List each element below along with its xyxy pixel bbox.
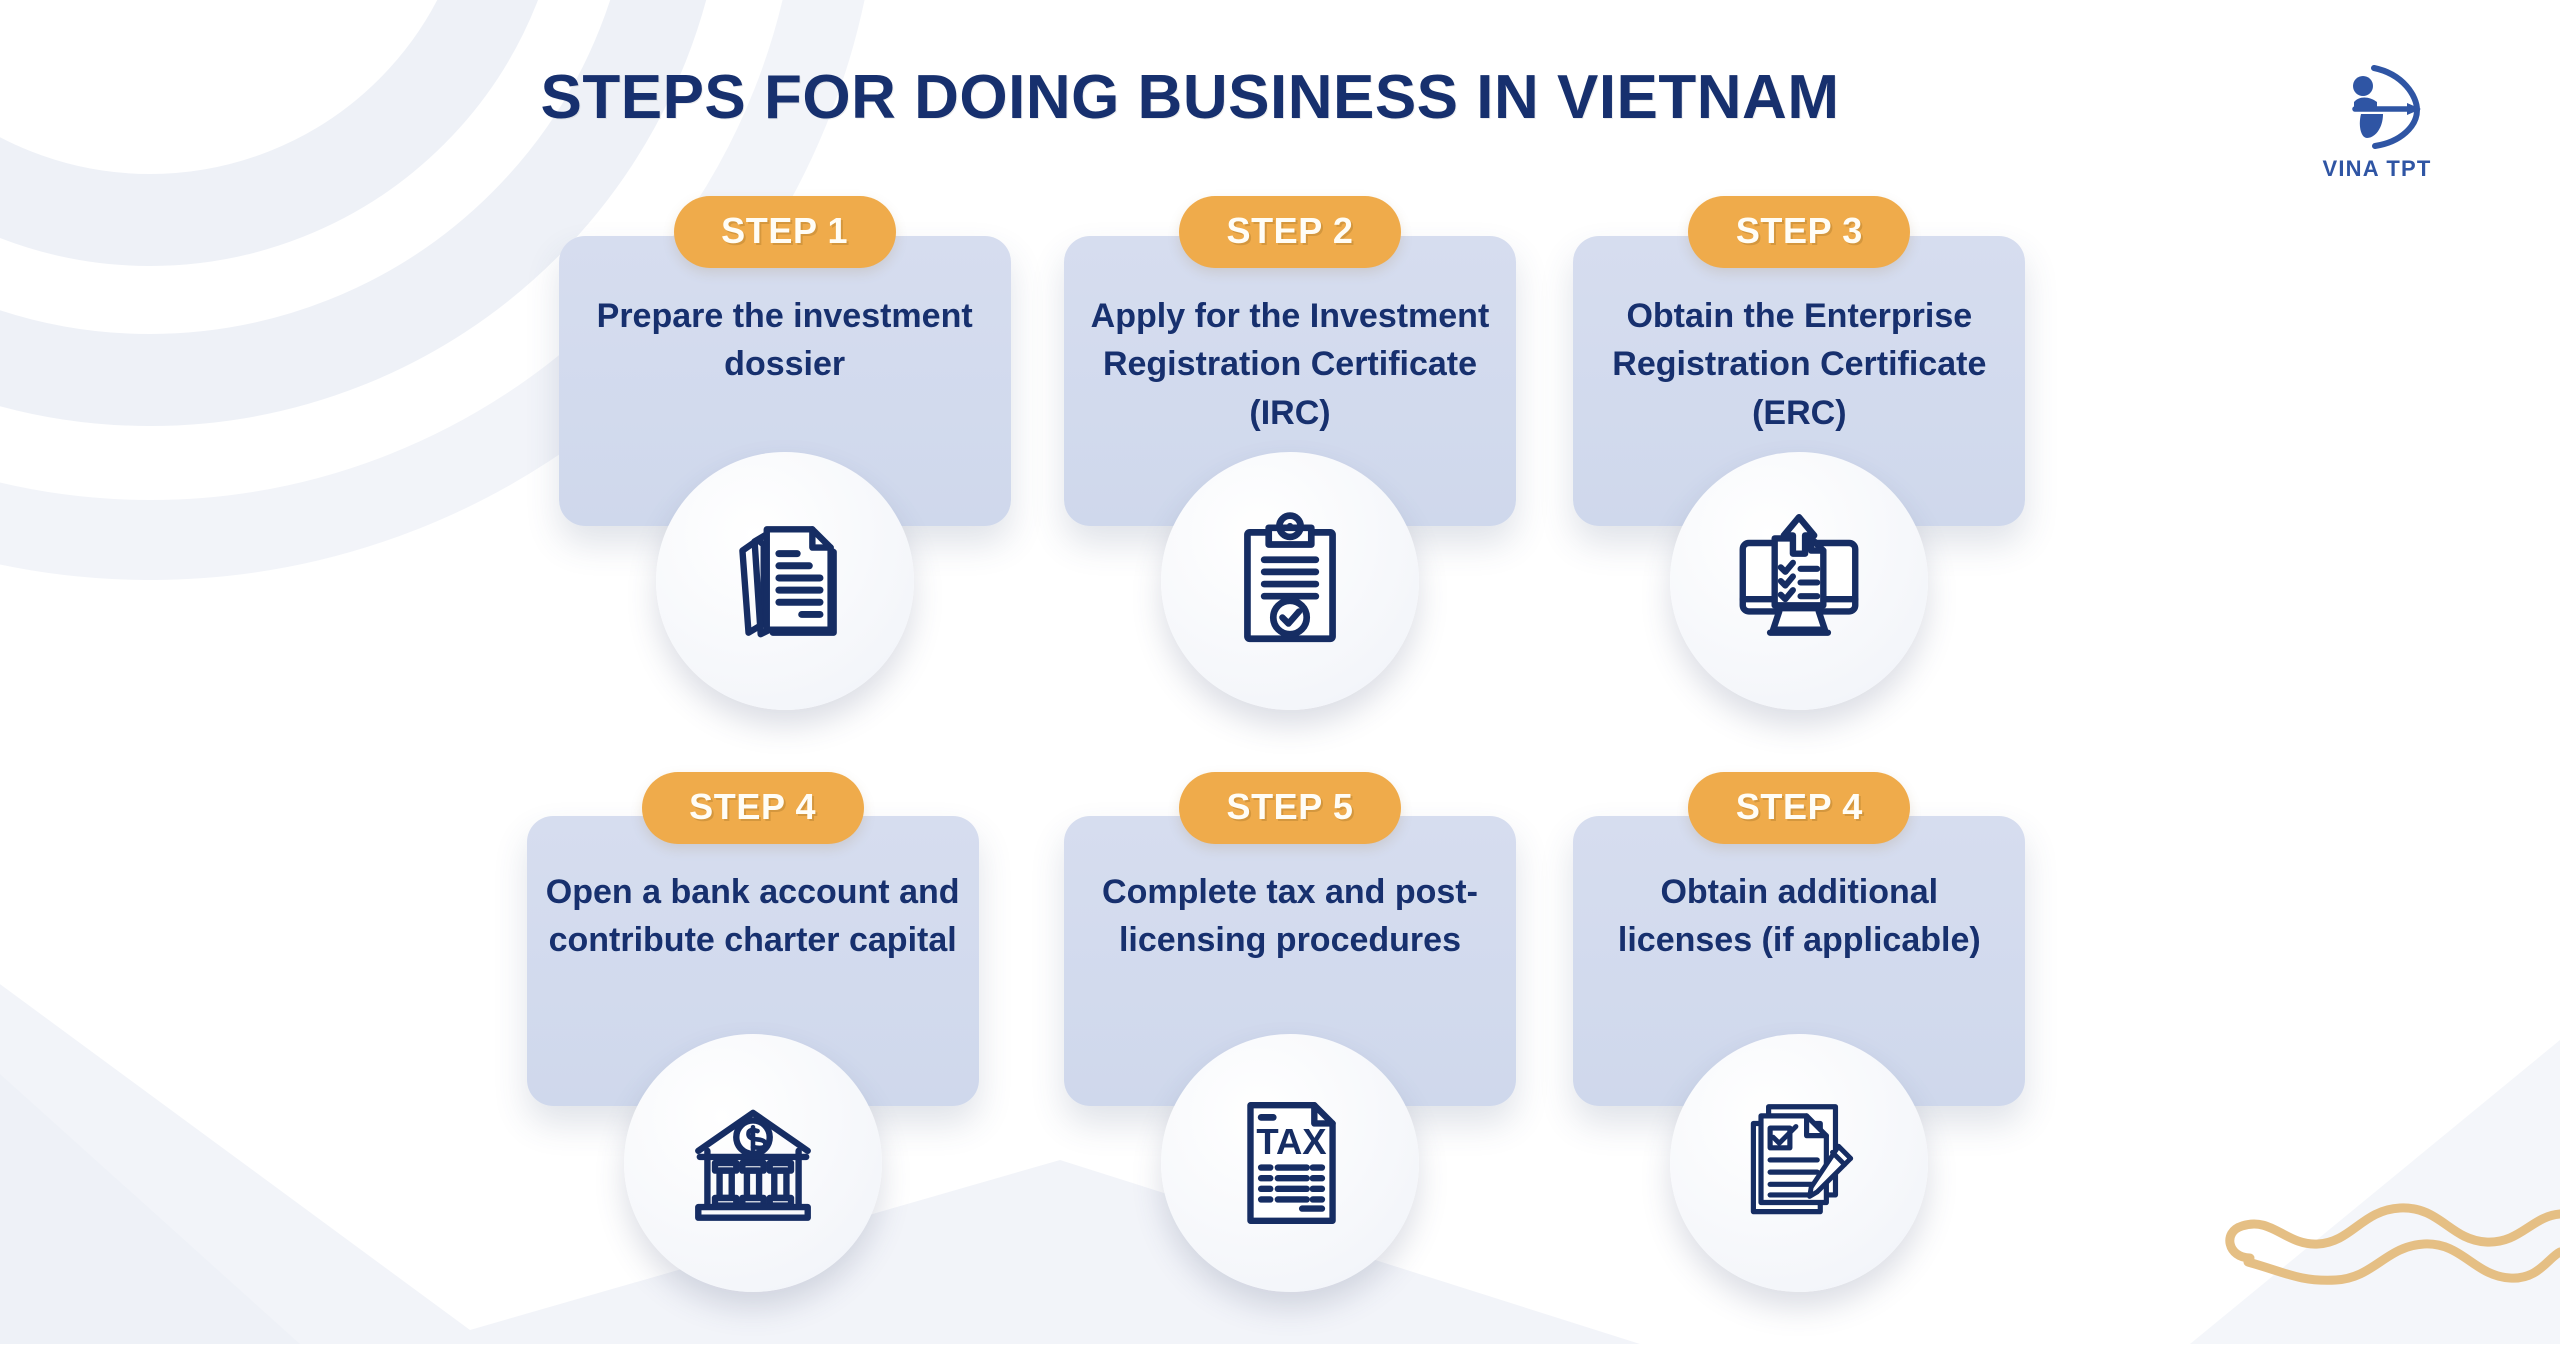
clipboard-check-icon [1214,505,1366,657]
tax-document-icon: TAX [1214,1087,1366,1239]
step-cell-5: STEP 5 Complete tax and post-licensing p… [1033,772,1546,1348]
step-badge-4: STEP 4 [642,772,864,844]
brand-logo: VINA TPT [2282,62,2472,182]
step-text-4: Open a bank account and contribute chart… [545,868,961,965]
step-badge-3: STEP 3 [1688,196,1910,268]
step-badge-1: STEP 1 [674,196,896,268]
steps-grid: STEP 1 Prepare the investment dossier [0,196,2560,1348]
page-header: STEPS FOR DOING BUSINESS IN VIETNAM VINA… [0,0,2560,200]
archer-logo-icon [2327,62,2427,150]
page-title: STEPS FOR DOING BUSINESS IN VIETNAM [0,62,2560,133]
step-icon-circle-1 [656,452,914,710]
brand-name: VINA TPT [2282,156,2472,182]
step-badge-2: STEP 2 [1179,196,1401,268]
step-cell-6: STEP 4 Obtain additional licenses (if ap… [1547,772,2060,1348]
documents-pencil-checkbox-icon [1723,1087,1875,1239]
bank-building-dollar-icon [677,1087,829,1239]
step-text-5: Complete tax and post-licensing procedur… [1082,868,1498,965]
step-icon-circle-6 [1670,1034,1928,1292]
stacked-documents-icon [709,505,861,657]
step-icon-circle-3 [1670,452,1928,710]
step-cell-4: STEP 4 Open a bank account and contribut… [520,772,1033,1348]
step-badge-5: STEP 5 [1179,772,1401,844]
step-text-1: Prepare the investment dossier [577,292,993,389]
step-cell-1: STEP 1 Prepare the investment dossier [520,196,1033,772]
step-icon-circle-5: TAX [1161,1034,1419,1292]
step-text-3: Obtain the Enterprise Registration Certi… [1591,292,2007,437]
step-cell-3: STEP 3 Obtain the Enterprise Registratio… [1547,196,2060,772]
step-icon-circle-2 [1161,452,1419,710]
step-text-6: Obtain additional licenses (if applicabl… [1591,868,2007,965]
step-text-2: Apply for the Investment Registration Ce… [1082,292,1498,437]
step-badge-6: STEP 4 [1688,772,1910,844]
svg-text:TAX: TAX [1256,1121,1326,1162]
step-icon-circle-4 [624,1034,882,1292]
monitor-upload-checklist-icon [1723,505,1875,657]
step-cell-2: STEP 2 Apply for the Investment Registra… [1033,196,1546,772]
